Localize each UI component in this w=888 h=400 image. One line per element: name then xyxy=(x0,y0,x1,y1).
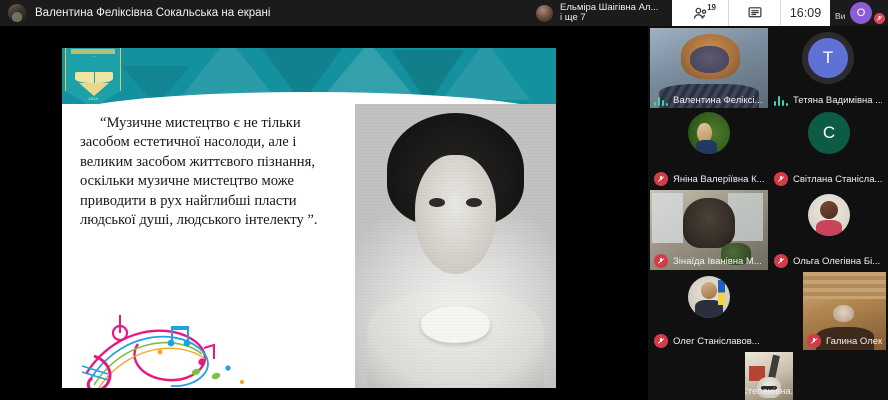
mic-off-icon xyxy=(654,172,668,186)
participant-name-row: Зінаїда Іванівна М... xyxy=(650,254,768,268)
institution-emblem-icon: 1834 xyxy=(65,48,121,104)
presenter-extra-count: і ще 7 xyxy=(560,13,658,23)
participant-name-row: Галина Олександр... xyxy=(803,334,886,348)
meeting-top-bar: Валентина Феліксівна Сокальська на екран… xyxy=(0,0,888,26)
participant-name: Ольга Олегівна Бі... xyxy=(793,256,880,267)
participant-name: Галина Олександр... xyxy=(826,336,882,347)
mic-off-icon xyxy=(876,15,883,22)
presenter-chip[interactable]: Ельміра Шаігівна Ал... і ще 7 xyxy=(536,0,658,26)
participant-name: Світлана Станісла... xyxy=(793,174,882,185)
participant-tile[interactable]: Галина Олександр... xyxy=(803,272,886,350)
participant-name-row: Валентина Феліксі... xyxy=(650,95,768,106)
mic-off-icon xyxy=(654,254,668,268)
avatar-initial: Т xyxy=(808,38,848,78)
meeting-controls-bar: 19 16:09 xyxy=(672,0,830,26)
slide-quote-text: “Музичне мистецтво є не тільки засобом е… xyxy=(80,114,352,230)
participant-tile[interactable]: Олег Станіславов... xyxy=(650,272,768,350)
participant-tile[interactable]: Зінаїда Іванівна М... xyxy=(650,190,768,270)
participant-tile[interactable]: С Світлана Станісла... xyxy=(770,110,886,188)
audio-bars-icon xyxy=(654,96,668,106)
active-speaker-avatar xyxy=(8,4,26,22)
participant-tile[interactable]: Яніна Валеріївна К... xyxy=(650,110,768,188)
self-avatar[interactable]: О xyxy=(850,2,872,24)
slide-banner: 1834 xyxy=(62,48,556,104)
participant-name-row: Світлана Станісла... xyxy=(770,172,886,186)
participant-tile[interactable]: Ольга Олегівна Бі... xyxy=(770,190,886,270)
chat-button[interactable] xyxy=(728,0,780,26)
participants-button[interactable]: 19 xyxy=(672,0,728,26)
mic-off-icon xyxy=(774,172,788,186)
music-notes-decoration-icon xyxy=(76,296,286,388)
chat-icon xyxy=(747,5,763,21)
self-mic-off-badge xyxy=(874,13,885,24)
participant-name: Яніна Валеріївна К... xyxy=(673,174,764,185)
avatar-initial: С xyxy=(808,112,850,154)
participant-name-row: Олег Станіславов... xyxy=(650,334,768,348)
participant-name-row: Ольга Олегівна Бі... xyxy=(770,254,886,268)
participant-name: Зінаїда Іванівна М... xyxy=(673,256,762,267)
meeting-clock: 16:09 xyxy=(780,0,830,26)
portrait-photo xyxy=(355,104,556,388)
participant-name: Тетяна Вадимівна ... xyxy=(793,95,882,106)
participants-filmstrip[interactable]: Валентина Феліксі... Т Тетяна Вадимівна … xyxy=(648,26,888,400)
mic-off-icon xyxy=(774,254,788,268)
participants-count-badge: 19 xyxy=(707,3,716,12)
active-speaker-label: Валентина Феліксівна Сокальська на екран… xyxy=(35,7,270,19)
participant-name: Тетяна Степанівна... xyxy=(745,386,793,397)
audio-bars-icon xyxy=(774,96,788,106)
mic-off-icon xyxy=(807,334,821,348)
avatar-photo xyxy=(688,276,730,318)
presentation-slide: 1834 “Музичне мистецтво є не тільки засо… xyxy=(62,48,556,388)
avatar-photo xyxy=(808,194,850,236)
mic-off-icon xyxy=(654,334,668,348)
participant-name-row: Тетяна Вадимівна ... xyxy=(770,95,886,106)
teams-meeting-window: Валентина Феліксівна Сокальська на екран… xyxy=(0,0,888,400)
avatar-photo xyxy=(688,112,730,154)
participant-name: Валентина Феліксі... xyxy=(673,95,762,106)
participant-tile[interactable]: Валентина Феліксі... xyxy=(650,28,768,108)
shared-screen-stage[interactable]: 1834 “Музичне мистецтво є не тільки засо… xyxy=(0,26,648,400)
emblem-year: 1834 xyxy=(66,96,120,101)
self-participant-block[interactable]: Ви О xyxy=(832,0,888,26)
active-speaker-chip: Валентина Феліксівна Сокальська на екран… xyxy=(8,0,270,26)
participant-name-row: Яніна Валеріївна К... xyxy=(650,172,768,186)
presenter-avatar xyxy=(536,5,553,22)
people-icon xyxy=(692,5,709,22)
participant-tile[interactable]: Тетяна Степанівна... xyxy=(745,352,793,400)
participant-tile[interactable]: Т Тетяна Вадимівна ... xyxy=(770,28,886,108)
self-label: Ви xyxy=(835,11,845,21)
participant-name-row: Тетяна Степанівна... xyxy=(745,384,793,398)
participant-name: Олег Станіславов... xyxy=(673,336,760,347)
